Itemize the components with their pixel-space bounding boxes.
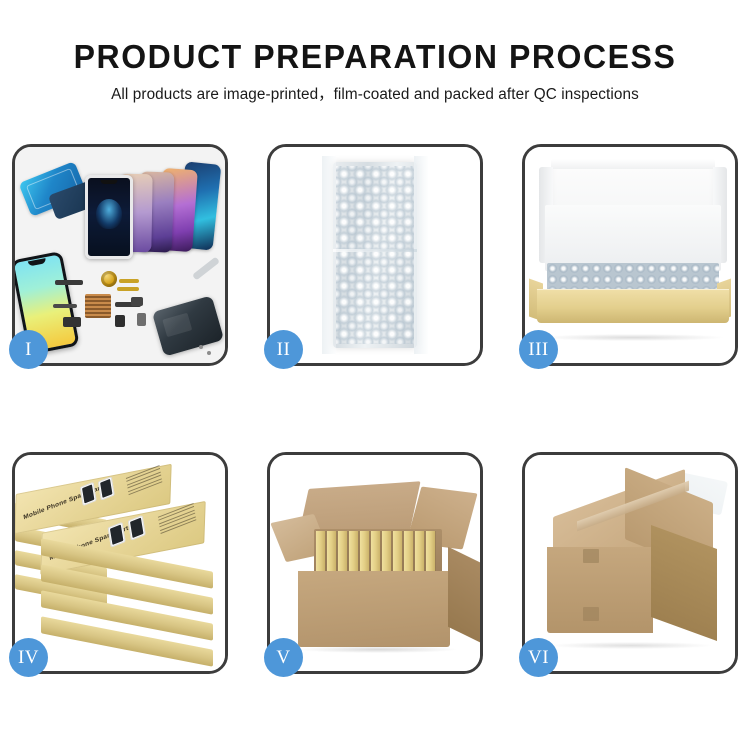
drop-shadow xyxy=(543,334,723,341)
camera-module-icon xyxy=(115,315,125,327)
wrap-edge-right xyxy=(414,156,428,354)
flex-cable-icon xyxy=(53,304,77,308)
step-2-image xyxy=(270,147,480,363)
bubble-pattern-offset xyxy=(336,166,414,344)
box-stack: Mobile Phone Spare Parts Mobile Phone Sp… xyxy=(15,455,225,671)
wrap-edge-left xyxy=(322,156,336,354)
carton-right-face xyxy=(448,547,480,644)
foam-padding-icon xyxy=(545,205,721,271)
drop-shadow xyxy=(300,646,456,653)
tempered-glass-screen-icon xyxy=(85,175,133,259)
box-phone-image xyxy=(98,476,115,500)
carton-front-face xyxy=(547,547,653,633)
step-5-image xyxy=(270,455,480,671)
repair-tweezers-icon xyxy=(192,257,220,281)
process-step-panel-4[interactable]: Mobile Phone Spare Parts Mobile Phone Sp… xyxy=(12,452,228,674)
step-badge-2: II xyxy=(264,330,303,369)
process-step-panel-2[interactable]: II xyxy=(267,144,483,366)
box-phone-image xyxy=(108,522,126,548)
box-spec-lines xyxy=(126,465,163,497)
step-1-image xyxy=(15,147,225,363)
kraft-box-front-icon xyxy=(537,289,729,323)
circuit-mesh-icon xyxy=(85,294,111,318)
process-step-grid: I II III xyxy=(12,144,738,674)
page-subtitle: All products are image-printed，film-coat… xyxy=(0,85,750,105)
battery-connector-icon xyxy=(137,313,146,326)
step-6-image xyxy=(525,455,735,671)
process-step-panel-3[interactable]: III xyxy=(522,144,738,366)
step-badge-3: III xyxy=(519,330,558,369)
process-step-panel-1[interactable]: I xyxy=(12,144,228,366)
bubble-wrapped-item-icon xyxy=(333,162,417,348)
lid-top-edge xyxy=(551,159,715,169)
page-title: PRODUCT PREPARATION PROCESS xyxy=(11,38,739,76)
drop-shadow xyxy=(551,642,711,649)
box-phone-image xyxy=(80,482,97,506)
box-phone-image xyxy=(128,515,146,541)
carton-front-face xyxy=(298,571,450,647)
flex-cable-gold-icon xyxy=(119,279,139,283)
phone-notch-icon xyxy=(101,180,118,184)
vibrator-module-icon xyxy=(131,297,143,306)
step-badge-4: IV xyxy=(9,638,48,677)
process-step-panel-6[interactable]: VI xyxy=(522,452,738,674)
flex-cable-gold-icon xyxy=(117,287,139,291)
screw-icon xyxy=(199,345,203,349)
opened-phone-chassis-icon xyxy=(152,295,224,356)
copper-coil-icon xyxy=(101,271,117,287)
step-badge-1: I xyxy=(9,330,48,369)
process-step-panel-5[interactable]: V xyxy=(267,452,483,674)
carton-flap-tab xyxy=(583,607,599,621)
flex-cable-icon xyxy=(55,280,83,285)
step-badge-6: VI xyxy=(519,638,558,677)
wrap-seam xyxy=(333,249,417,252)
screw-icon xyxy=(207,351,211,355)
phone-notch-icon xyxy=(28,258,47,266)
box-spec-lines xyxy=(158,503,197,536)
step-3-image xyxy=(525,147,735,363)
step-4-image: Mobile Phone Spare Parts Mobile Phone Sp… xyxy=(15,455,225,671)
page-header: PRODUCT PREPARATION PROCESS All products… xyxy=(0,0,750,105)
speaker-module-icon xyxy=(63,317,81,327)
step-badge-5: V xyxy=(264,638,303,677)
carton-flap-tab xyxy=(583,549,599,563)
